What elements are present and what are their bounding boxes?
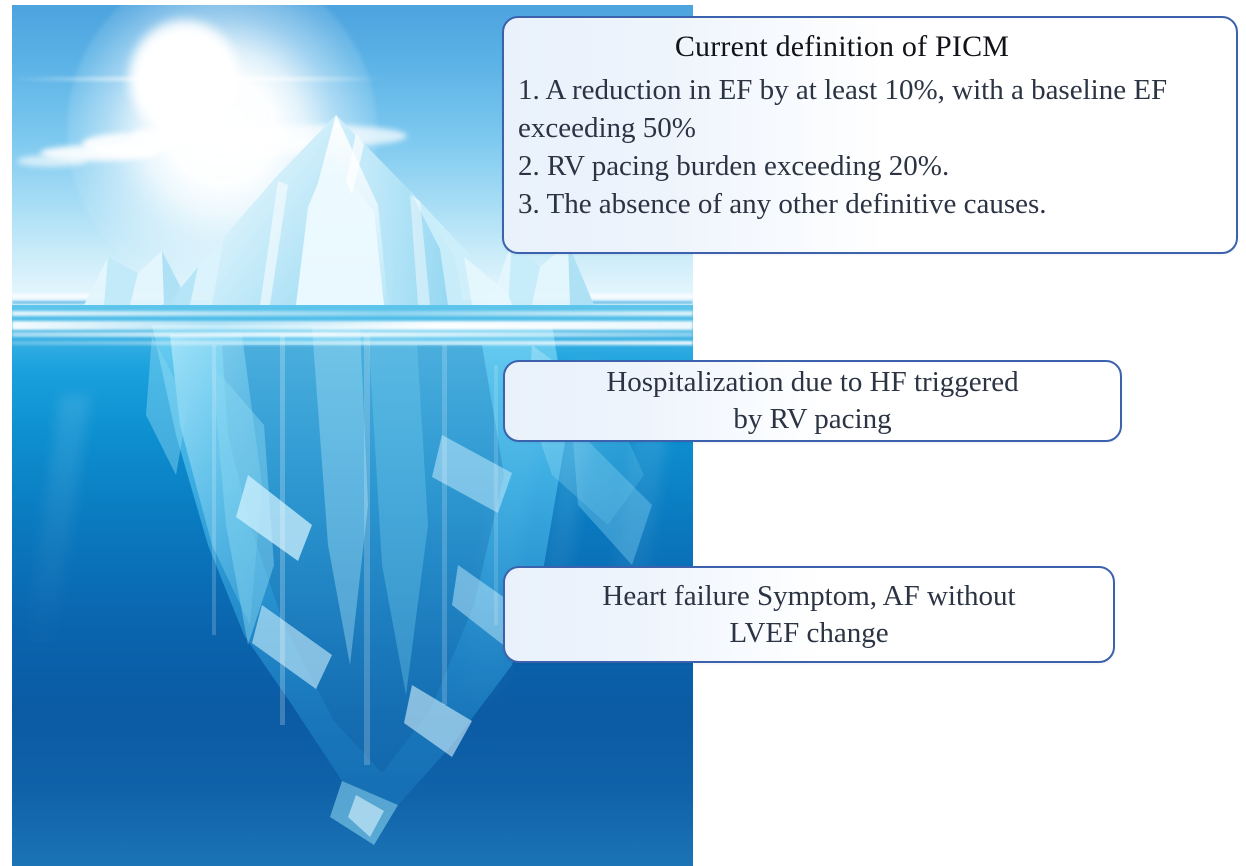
callout-hospitalization: Hospitalization due to HF triggered by R… xyxy=(503,360,1122,442)
callout-current-definition: Current definition of PICM 1. A reductio… xyxy=(502,16,1238,254)
definition-item-2: 2. RV pacing burden exceeding 20%. xyxy=(518,147,1222,185)
water-foam xyxy=(12,332,693,337)
callout-hospitalization-text: Hospitalization due to HF triggered by R… xyxy=(606,364,1018,438)
definition-item-1: 1. A reduction in EF by at least 10%, wi… xyxy=(518,71,1222,147)
definition-item-3: 3. The absence of any other definitive c… xyxy=(518,185,1222,223)
water-foam xyxy=(12,341,693,345)
callout-title: Current definition of PICM xyxy=(518,27,1222,67)
callout-symptom: Heart failure Symptom, AF without LVEF c… xyxy=(503,566,1115,663)
water-foam xyxy=(12,311,693,316)
definition-list: 1. A reduction in EF by at least 10%, wi… xyxy=(518,71,1222,223)
callout-symptom-text: Heart failure Symptom, AF without LVEF c… xyxy=(602,578,1015,652)
water-foam xyxy=(12,321,693,330)
